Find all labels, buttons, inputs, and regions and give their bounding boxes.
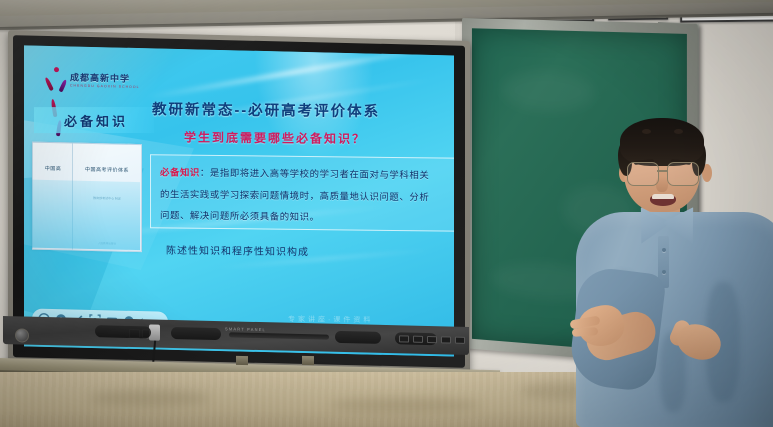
classroom-scene: 成都高新中学 CHENGDU GAOXIN SCHOOL 必备知识 中国高 (0, 0, 773, 427)
speaker-grille-mid-right (335, 331, 381, 344)
shirt-button (662, 270, 666, 274)
definition-line-1: 必备知识：是指即将进入高等学校的学习者在面对与学科相关 (160, 164, 429, 181)
teacher-hair (620, 118, 704, 166)
presentation-slide: 成都高新中学 CHENGDU GAOXIN SCHOOL 必备知识 中国高 (24, 45, 454, 356)
eyeglass-bridge (657, 170, 667, 172)
book-title: 中国高 (33, 165, 73, 173)
book-title: 中国高考评价体系 (73, 166, 141, 175)
slide-title: 教研新常态--必研高考评价体系 (152, 98, 380, 121)
teacher-figure (592, 120, 773, 427)
definition-line-1-rest: ：是指即将进入高等学校的学习者在面对与学科相关 (200, 167, 429, 181)
school-name-en: CHENGDU GAOXIN SCHOOL (70, 84, 140, 89)
definition-line-3: 问题、解决问题所必须具备的知识。 (160, 207, 320, 223)
slide-section-banner: 必备知识 (34, 107, 154, 133)
shirt-button (662, 248, 666, 252)
teacher-nose (656, 176, 668, 192)
tray-bracket (236, 356, 248, 365)
book-panel-overlay (32, 180, 140, 251)
definition-box: 必备知识：是指即将进入高等学校的学习者在面对与学科相关 的生活实践或学习探索问题… (150, 154, 454, 231)
slide-section-banner-label: 必备知识 (64, 111, 128, 130)
slide-subtitle: 学生到底需要哪些必备知识？ (184, 128, 366, 147)
book-cover-panel: 中国高 中国高考评价体系 教育部考试中心 制定 人民教育出版社 (32, 142, 140, 251)
speaker-grille-mid-left (171, 327, 221, 340)
eyeglass-lens-left (627, 162, 659, 186)
definition-term: 必备知识 (160, 166, 200, 177)
teacher-teeth (652, 194, 674, 199)
teacher-eye-left (642, 129, 651, 134)
smart-board-brand: SMART PANEL (225, 326, 266, 332)
power-button[interactable] (15, 328, 29, 342)
teacher-eye-right (674, 129, 683, 134)
speaker-grille-left (95, 325, 151, 338)
sprout-emblem-icon (46, 68, 66, 92)
definition-line-2: 的生活实践或学习探索问题情境时，高质量地认识问题、分析 (160, 186, 429, 203)
eyeglass-lens-right (667, 162, 699, 186)
tray-bracket (302, 356, 314, 365)
slide-footer-note: 陈述性知识和程序性知识构成 (166, 242, 309, 259)
school-logo: 成都高新中学 CHENGDU GAOXIN SCHOOL (46, 68, 140, 94)
vent-slot (229, 332, 329, 339)
smart-board-screen[interactable]: 成都高新中学 CHENGDU GAOXIN SCHOOL 必备知识 中国高 (24, 45, 454, 356)
school-name-cn: 成都高新中学 (70, 73, 140, 84)
